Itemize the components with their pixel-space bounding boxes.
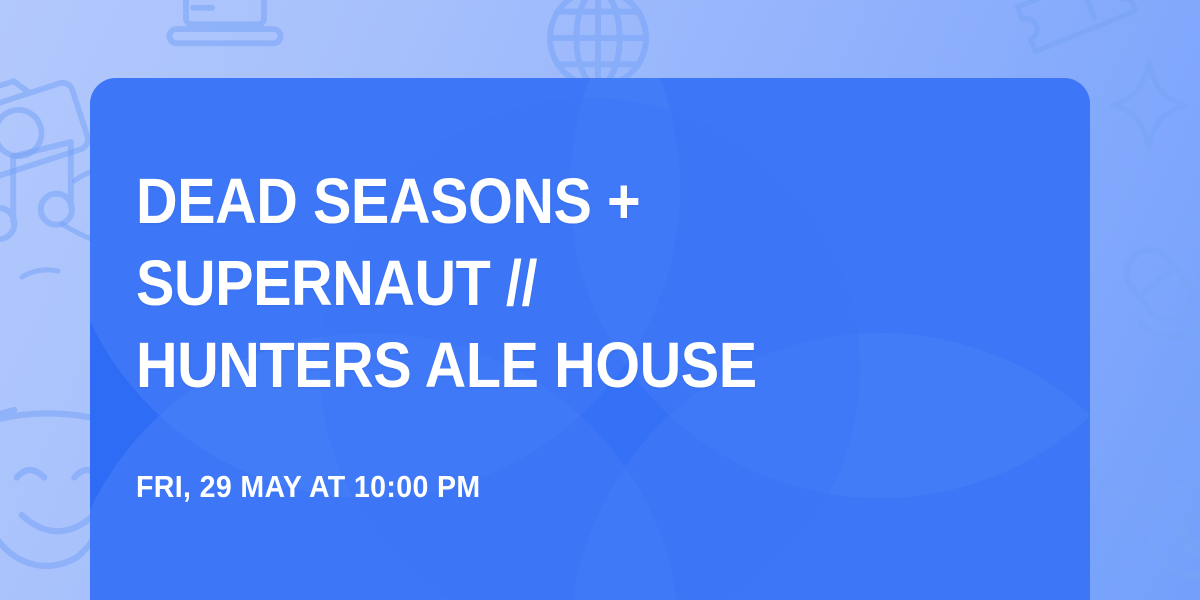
sparkle-icon bbox=[1106, 56, 1192, 154]
event-title: DEAD SEASONS + SUPERNAUT // HUNTERS ALE … bbox=[136, 160, 959, 406]
event-poster: DEAD SEASONS + SUPERNAUT // HUNTERS ALE … bbox=[0, 0, 1200, 600]
card-content: DEAD SEASONS + SUPERNAUT // HUNTERS ALE … bbox=[136, 78, 1050, 600]
event-card[interactable]: DEAD SEASONS + SUPERNAUT // HUNTERS ALE … bbox=[90, 78, 1090, 600]
laptop-icon bbox=[160, 0, 290, 64]
music-note-icon bbox=[0, 130, 90, 250]
microphone-icon bbox=[1085, 212, 1200, 398]
event-datetime: FRI, 29 MAY AT 10:00 PM bbox=[136, 468, 480, 506]
swirl-icon bbox=[1086, 408, 1200, 588]
play-icon bbox=[1136, 470, 1200, 590]
ticket-icon bbox=[998, 0, 1152, 71]
sparkle-stroke-icon bbox=[18, 255, 64, 285]
